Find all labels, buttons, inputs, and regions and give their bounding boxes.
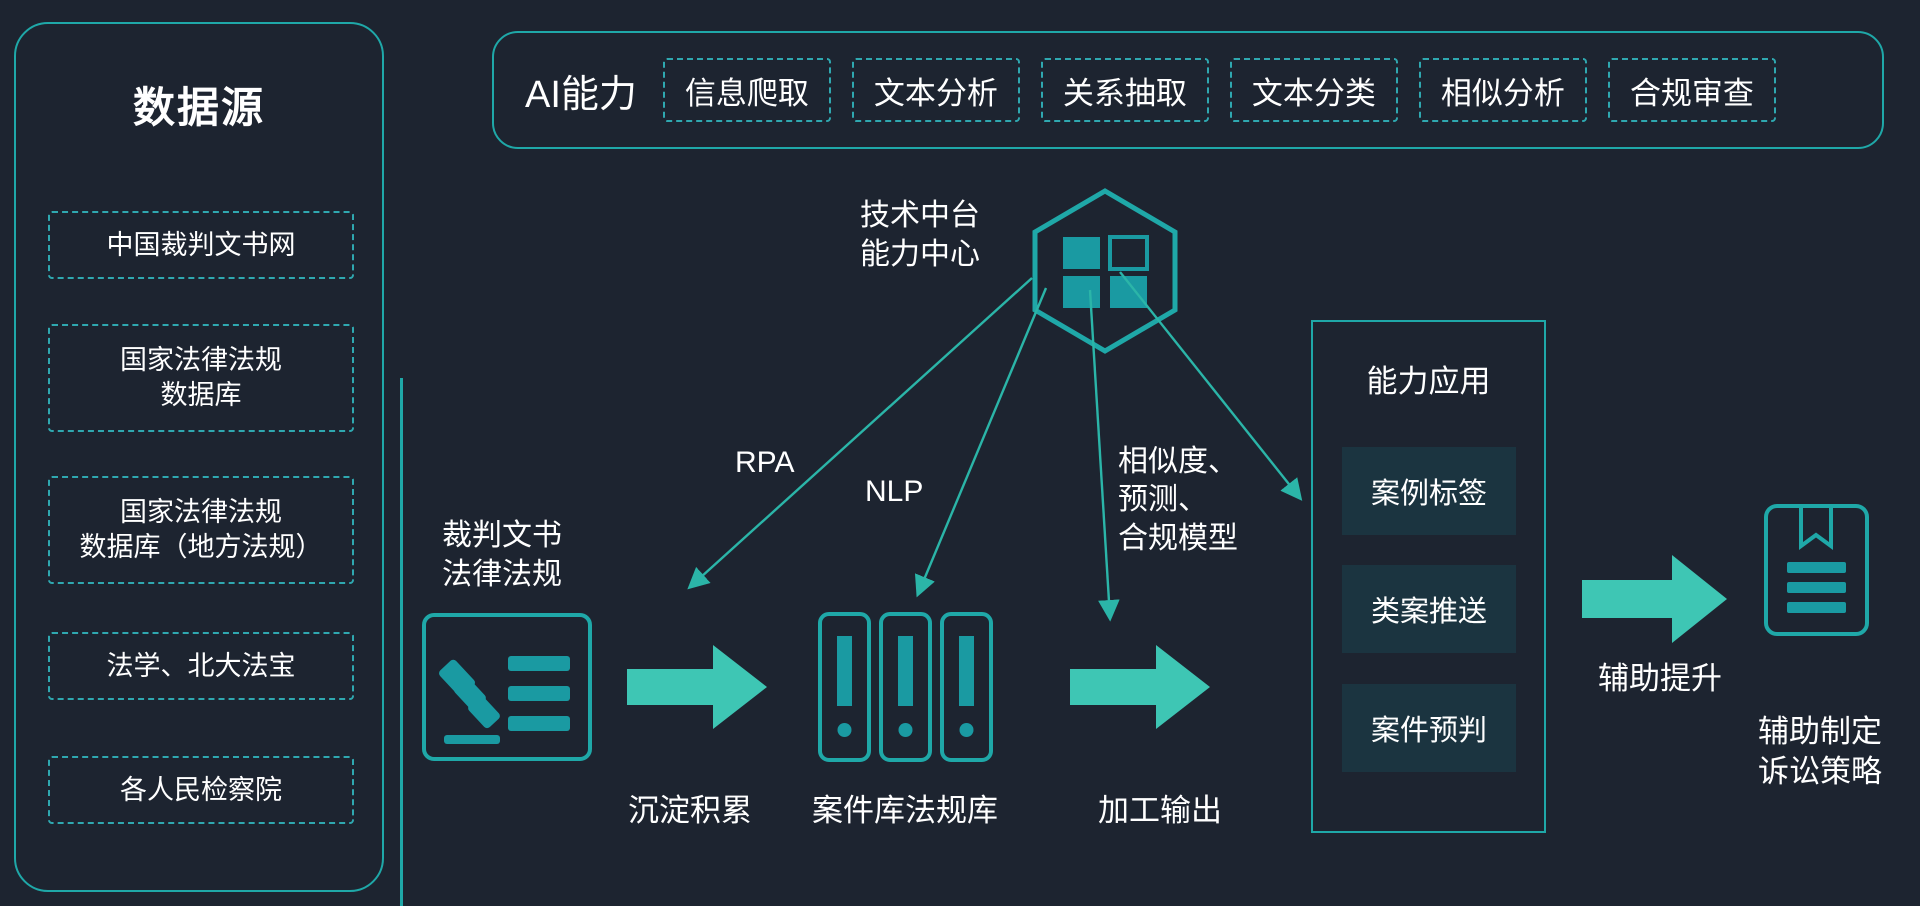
ability-item-2[interactable]: 案件预判 bbox=[1342, 684, 1516, 772]
section-divider bbox=[400, 378, 403, 906]
ai-chip-5[interactable]: 合规审查 bbox=[1608, 58, 1776, 122]
datasource-item-3[interactable]: 法学、北大法宝 bbox=[48, 632, 354, 700]
tech-center-label: 技术中台能力中心 bbox=[845, 196, 995, 274]
assist-caption: 辅助提升 bbox=[1580, 653, 1740, 698]
ability-application-title: 能力应用 bbox=[1313, 356, 1544, 401]
hexagon-four-squares-icon bbox=[1030, 188, 1180, 354]
server-rack-icon bbox=[818, 612, 993, 762]
stage3-caption: 加工输出 bbox=[1070, 785, 1250, 830]
flow-arrow-3 bbox=[1582, 555, 1727, 643]
datasource-item-2[interactable]: 国家法律法规数据库（地方法规） bbox=[48, 476, 354, 584]
datasource-panel: 数据源 中国裁判文书网 国家法律法规数据库 国家法律法规数据库（地方法规） 法学… bbox=[14, 22, 384, 892]
ai-chip-3[interactable]: 文本分类 bbox=[1230, 58, 1398, 122]
ai-chip-0[interactable]: 信息爬取 bbox=[663, 58, 831, 122]
datasource-item-4[interactable]: 各人民检察院 bbox=[48, 756, 354, 824]
ai-capability-bar: AI能力 信息爬取 文本分析 关系抽取 文本分类 相似分析 合规审查 bbox=[492, 31, 1884, 149]
connector-label-similarity: 相似度、预测、合规模型 bbox=[1118, 443, 1278, 558]
flow-arrow-1 bbox=[627, 645, 767, 729]
stage2-caption: 案件库法规库 bbox=[780, 785, 1030, 830]
ai-chip-4[interactable]: 相似分析 bbox=[1419, 58, 1587, 122]
bookmark-document-icon bbox=[1764, 504, 1869, 636]
connector-label-rpa: RPA bbox=[735, 444, 794, 482]
flow-arrow-2 bbox=[1070, 645, 1210, 729]
datasource-item-0[interactable]: 中国裁判文书网 bbox=[48, 211, 354, 279]
ai-capability-title: AI能力 bbox=[525, 63, 637, 118]
ai-chip-2[interactable]: 关系抽取 bbox=[1041, 58, 1209, 122]
final-output-caption: 辅助制定诉讼策略 bbox=[1740, 712, 1900, 793]
ai-chip-1[interactable]: 文本分析 bbox=[852, 58, 1020, 122]
ability-application-panel: 能力应用 案例标签 类案推送 案件预判 bbox=[1311, 320, 1546, 833]
gavel-document-icon bbox=[422, 613, 592, 761]
datasource-title: 数据源 bbox=[16, 74, 382, 135]
ability-item-0[interactable]: 案例标签 bbox=[1342, 447, 1516, 535]
diagram-canvas: 数据源 中国裁判文书网 国家法律法规数据库 国家法律法规数据库（地方法规） 法学… bbox=[0, 0, 1920, 906]
connector-label-nlp: NLP bbox=[865, 473, 923, 511]
stage1-caption: 沉淀积累 bbox=[600, 785, 780, 830]
ability-item-1[interactable]: 类案推送 bbox=[1342, 565, 1516, 653]
stage1-label: 裁判文书法律法规 bbox=[422, 516, 582, 594]
datasource-item-1[interactable]: 国家法律法规数据库 bbox=[48, 324, 354, 432]
